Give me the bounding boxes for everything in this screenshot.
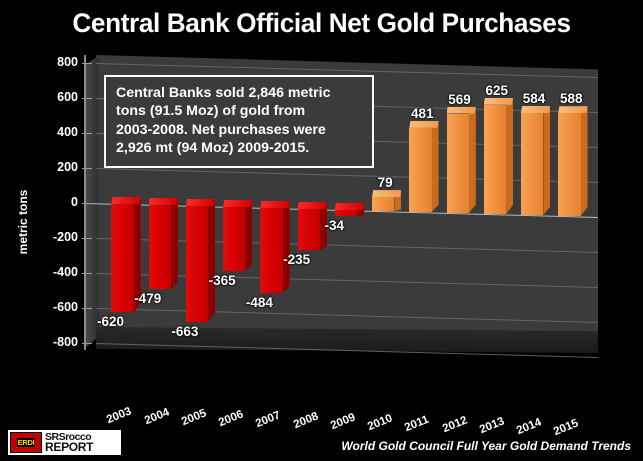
bar-front-face xyxy=(223,207,245,271)
bar-top-face xyxy=(521,106,550,113)
bar-side-face xyxy=(581,106,588,216)
bar-top-face xyxy=(111,197,140,204)
y-tick-mark xyxy=(82,133,92,134)
srsrocco-logo: ERDI SRSrocco REPORT xyxy=(8,430,121,455)
bar-2004[interactable] xyxy=(149,205,171,289)
bar-top-face xyxy=(335,203,364,210)
data-label-2015: 588 xyxy=(560,91,583,106)
bar-2013[interactable] xyxy=(484,105,506,214)
bar-2010[interactable] xyxy=(372,197,394,211)
annotation-line-3: 2003-2008. Net purchases were xyxy=(116,121,362,139)
bar-front-face xyxy=(111,204,133,313)
bar-top-face xyxy=(447,107,476,114)
bar-top-face xyxy=(149,198,178,205)
x-tick-label-2010: 2010 xyxy=(366,412,394,433)
bar-side-face xyxy=(543,106,550,215)
annotation-box: Central Banks sold 2,846 metric tons (91… xyxy=(104,75,374,168)
x-tick-label-2012: 2012 xyxy=(441,414,469,435)
bar-top-face xyxy=(558,106,587,113)
data-label-2010: 79 xyxy=(378,175,393,190)
bar-top-face xyxy=(223,200,252,207)
bar-2015[interactable] xyxy=(558,113,580,216)
x-tick-label-2009: 2009 xyxy=(329,411,357,432)
y-tick-label: -400 xyxy=(6,265,78,279)
chart-title: Central Bank Official Net Gold Purchases xyxy=(10,8,634,39)
bar-side-face xyxy=(469,107,476,214)
x-tick-label-2015: 2015 xyxy=(552,418,580,439)
chart-canvas: Central Bank Official Net Gold Purchases… xyxy=(0,0,643,461)
data-label-2005: -663 xyxy=(171,324,198,339)
x-tick-label-2013: 2013 xyxy=(478,416,506,437)
bar-front-face xyxy=(186,206,208,322)
data-label-2006: -365 xyxy=(209,273,236,288)
bar-side-face xyxy=(506,98,513,214)
bar-front-face xyxy=(484,105,506,214)
y-tick-mark xyxy=(82,308,92,309)
bar-side-face xyxy=(171,198,178,289)
y-tick-label: 600 xyxy=(6,90,78,104)
annotation-line-1: Central Banks sold 2,846 metric xyxy=(116,84,362,102)
bar-top-face xyxy=(409,121,438,128)
y-tick-label: -200 xyxy=(6,230,78,244)
data-label-2003: -620 xyxy=(97,314,124,329)
bar-top-face xyxy=(186,199,215,206)
y-tick-mark xyxy=(82,273,92,274)
bar-side-face xyxy=(432,121,439,212)
bar-front-face xyxy=(447,114,469,214)
bar-2011[interactable] xyxy=(409,128,431,212)
annotation-line-2: tons (91.5 Moz) of gold from xyxy=(116,102,362,120)
y-tick-label: 200 xyxy=(6,160,78,174)
x-tick-label-2008: 2008 xyxy=(292,410,320,431)
y-tick-mark xyxy=(82,63,92,64)
bar-2009[interactable] xyxy=(335,210,357,216)
bar-2003[interactable] xyxy=(111,204,133,313)
bar-front-face xyxy=(521,113,543,215)
logo-line-1: SRSrocco xyxy=(45,432,93,443)
logo-line-2: REPORT xyxy=(45,441,93,453)
bar-top-face xyxy=(484,98,513,105)
y-tick-mark xyxy=(82,168,92,169)
y-tick-label: 0 xyxy=(6,195,78,209)
x-tick-label-2014: 2014 xyxy=(515,417,543,438)
data-label-2007: -484 xyxy=(246,295,273,310)
y-tick-label: -600 xyxy=(6,300,78,314)
y-tick-mark xyxy=(82,343,92,344)
x-tick-label-2003: 2003 xyxy=(105,405,133,426)
bar-front-face xyxy=(149,205,171,289)
bar-top-face xyxy=(260,201,289,208)
y-tick-mark xyxy=(82,238,92,239)
data-label-2013: 625 xyxy=(486,83,509,98)
logo-wordmark: SRSrocco REPORT xyxy=(45,432,93,454)
bar-top-face xyxy=(372,190,401,197)
bar-front-face xyxy=(335,210,357,216)
bar-2007[interactable] xyxy=(260,208,282,293)
bar-2014[interactable] xyxy=(521,113,543,215)
bar-2005[interactable] xyxy=(186,206,208,322)
annotation-line-4: 2,926 mt (94 Moz) 2009-2015. xyxy=(116,139,362,157)
bar-front-face xyxy=(558,113,580,216)
data-label-2012: 569 xyxy=(448,92,471,107)
data-label-2014: 584 xyxy=(523,91,546,106)
source-caption: World Gold Council Full Year Gold Demand… xyxy=(341,439,631,453)
bar-side-face xyxy=(245,200,252,271)
bar-2012[interactable] xyxy=(447,114,469,214)
bar-front-face xyxy=(409,128,431,212)
bar-2006[interactable] xyxy=(223,207,245,271)
x-tick-label-2011: 2011 xyxy=(403,414,431,434)
chart-left-wall xyxy=(85,56,99,348)
y-tick-mark xyxy=(82,98,92,99)
y-tick-label: 800 xyxy=(6,55,78,69)
bar-top-face xyxy=(298,202,327,209)
y-axis-tick-labels: 8006004002000-200-400-600-800 xyxy=(0,0,78,461)
logo-flag-label: ERDI xyxy=(17,438,36,447)
x-tick-label-2005: 2005 xyxy=(180,407,208,428)
bar-front-face xyxy=(260,208,282,293)
flag-icon: ERDI xyxy=(10,432,42,453)
bar-side-face xyxy=(283,201,290,293)
bar-2008[interactable] xyxy=(298,209,320,250)
bar-front-face xyxy=(372,197,394,211)
y-tick-label: 400 xyxy=(6,125,78,139)
x-tick-label-2006: 2006 xyxy=(217,408,245,429)
data-label-2004: -479 xyxy=(134,291,161,306)
data-label-2009: -34 xyxy=(325,218,345,233)
y-tick-label: -800 xyxy=(6,335,78,349)
data-label-2011: 481 xyxy=(411,106,434,121)
data-label-2008: -235 xyxy=(283,252,310,267)
y-tick-mark xyxy=(82,203,92,204)
bar-side-face xyxy=(208,199,215,322)
x-tick-label-2004: 2004 xyxy=(143,406,171,427)
x-tick-label-2007: 2007 xyxy=(254,409,282,430)
bar-front-face xyxy=(298,209,320,250)
